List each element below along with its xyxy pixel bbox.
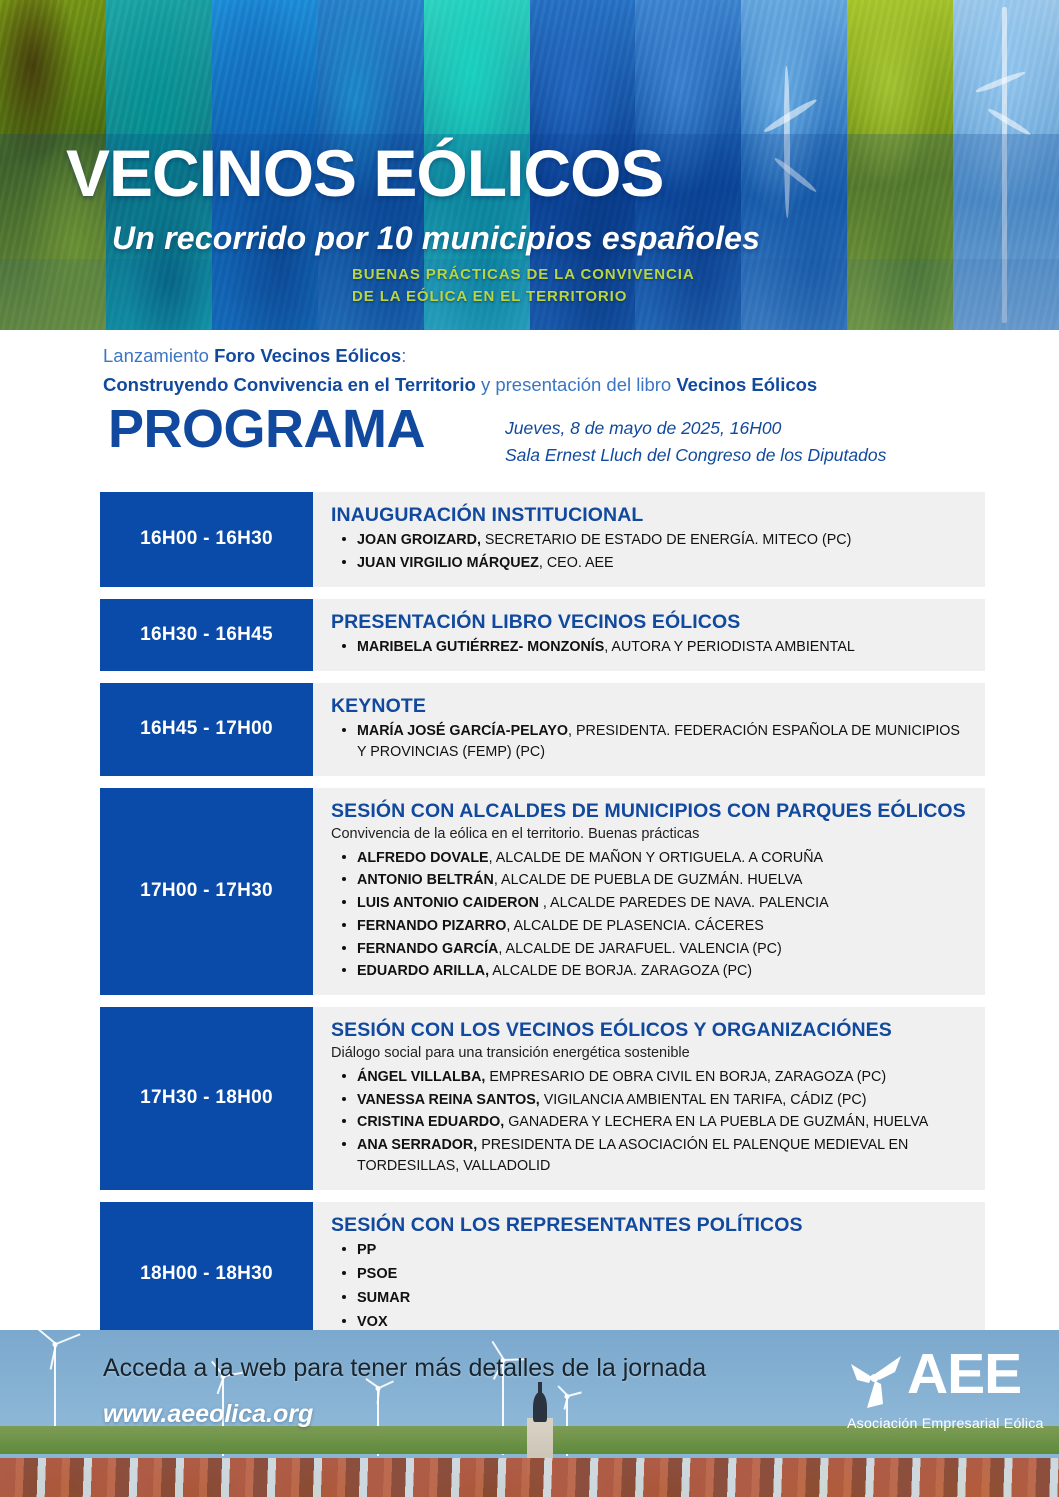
schedule-time: 16H45 - 17H00 [100,683,313,776]
speaker-detail: , ALCALDE DE JARAFUEL. VALENCIA (PC) [498,941,781,957]
list-item: VANESSA REINA SANTOS, VIGILANCIA AMBIENT… [355,1090,971,1111]
schedule-row: 18H00 - 18H30 SESIÓN CON LOS REPRESENTAN… [100,1202,985,1347]
speaker-name: FERNANDO PIZARRO [357,918,506,934]
intro-line2-bold2: Vecinos Eólicos [676,374,817,395]
banner-subtitle: Un recorrido por 10 municipios españoles [112,220,760,257]
banner-kicker: BUENAS PRÁCTICAS DE LA CONVIVENCIA DE LA… [352,264,695,308]
schedule-title: SESIÓN CON ALCALDES DE MUNICIPIOS CON PA… [331,799,971,823]
intro-line2-bold1: Construyendo Convivencia en el Territori… [103,374,476,395]
schedule-time: 17H00 - 17H30 [100,788,313,995]
schedule-time: 18H00 - 18H30 [100,1202,313,1347]
speaker-list: JOAN GROIZARD, SECRETARIO DE ESTADO DE E… [331,530,971,573]
event-venue: Sala Ernest Lluch del Congreso de los Di… [505,442,886,469]
speaker-detail: ALCALDE DE BORJA. ZARAGOZA (PC) [489,963,752,979]
intro-line1-bold: Foro Vecinos Eólicos [214,345,401,366]
page-title: PROGRAMA [108,402,425,456]
aee-logo[interactable]: AEE Asociación Empresarial Eólica [841,1344,1041,1452]
intro-line2-mid: y presentación del libro [476,374,677,395]
aee-logo-text: AEE [907,1346,1021,1403]
schedule-subtitle: Diálogo social para una transición energ… [331,1044,971,1064]
banner-kicker-line1: BUENAS PRÁCTICAS DE LA CONVIVENCIA [352,264,695,286]
turbine-logo-icon [845,1350,905,1412]
schedule-body: PRESENTACIÓN LIBRO VECINOS EÓLICOS MARIB… [313,599,985,671]
intro-line1-suffix: : [401,345,406,366]
schedule-body: SESIÓN CON LOS REPRESENTANTES POLÍTICOS … [313,1202,985,1347]
intro-line-1: Lanzamiento Foro Vecinos Eólicos: [103,342,983,371]
speaker-detail: VIGILANCIA AMBIENTAL EN TARIFA, CÁDIZ (P… [540,1092,867,1108]
list-item: ANA SERRADOR, PRESIDENTA DE LA ASOCIACIÓ… [355,1135,971,1176]
intro-line-2: Construyendo Convivencia en el Territori… [103,371,983,400]
speaker-detail: EMPRESARIO DE OBRA CIVIL EN BORJA, ZARAG… [485,1069,886,1085]
footer-url-link[interactable]: www.aeeolica.org [103,1400,313,1429]
speaker-name: EDUARDO ARILLA, [357,963,489,979]
list-item: ALFREDO DOVALE, ALCALDE DE MAÑON Y ORTIG… [355,848,971,869]
schedule-title: SESIÓN CON LOS REPRESENTANTES POLÍTICOS [331,1213,971,1237]
schedule-body: SESIÓN CON LOS VECINOS EÓLICOS Y ORGANIZ… [313,1007,985,1190]
list-item: CRISTINA EDUARDO, GANADERA Y LECHERA EN … [355,1112,971,1133]
header-banner: VECINOS EÓLICOS Un recorrido por 10 muni… [0,0,1059,330]
schedule-table: 16H00 - 16H30 INAUGURACIÓN INSTITUCIONAL… [100,492,985,1411]
list-item: JUAN VIRGILIO MÁRQUEZ, CEO. AEE [355,553,971,574]
list-item: PSOE [355,1264,971,1285]
speaker-name: JOAN GROIZARD, [357,532,481,548]
schedule-time: 17H30 - 18H00 [100,1007,313,1190]
church-spire [533,1392,547,1422]
schedule-time: 16H00 - 16H30 [100,492,313,587]
intro-text: Lanzamiento Foro Vecinos Eólicos: Constr… [103,342,983,399]
schedule-body: SESIÓN CON ALCALDES DE MUNICIPIOS CON PA… [313,788,985,995]
speaker-name: ANTONIO BELTRÁN [357,872,494,888]
schedule-row: 16H45 - 17H00 KEYNOTE MARÍA JOSÉ GARCÍA-… [100,683,985,776]
speaker-name: JUAN VIRGILIO MÁRQUEZ [357,555,539,571]
speaker-name: CRISTINA EDUARDO, [357,1114,504,1130]
footer-banner: Acceda a la web para tener más detalles … [0,1330,1059,1497]
program-heading-row: PROGRAMA Jueves, 8 de mayo de 2025, 16H0… [108,402,988,472]
list-item: MARIBELA GUTIÉRREZ- MONZONÍS, AUTORA Y P… [355,637,971,658]
schedule-title: PRESENTACIÓN LIBRO VECINOS EÓLICOS [331,610,971,634]
speaker-detail: , ALCALDE DE PLASENCIA. CÁCERES [506,918,763,934]
schedule-subtitle: Convivencia de la eólica en el territori… [331,825,971,845]
list-item: ÁNGEL VILLALBA, EMPRESARIO DE OBRA CIVIL… [355,1067,971,1088]
speaker-name: MARÍA JOSÉ GARCÍA-PELAYO [357,723,568,739]
list-item: EDUARDO ARILLA, ALCALDE DE BORJA. ZARAGO… [355,961,971,982]
schedule-body: INAUGURACIÓN INSTITUCIONAL JOAN GROIZARD… [313,492,985,587]
list-item: JOAN GROIZARD, SECRETARIO DE ESTADO DE E… [355,530,971,551]
speaker-name: ÁNGEL VILLALBA, [357,1069,485,1085]
list-item: LUIS ANTONIO CAIDERON , ALCALDE PAREDES … [355,893,971,914]
speaker-list: ÁNGEL VILLALBA, EMPRESARIO DE OBRA CIVIL… [331,1067,971,1177]
church-spire-tip [538,1382,542,1396]
list-item: FERNANDO GARCÍA, ALCALDE DE JARAFUEL. VA… [355,939,971,960]
schedule-time: 16H30 - 16H45 [100,599,313,671]
banner-title: VECINOS EÓLICOS [66,140,663,206]
list-item: PP [355,1240,971,1261]
footer-rooftops [0,1458,1059,1497]
speaker-detail: , AUTORA Y PERIODISTA AMBIENTAL [604,639,855,655]
speaker-list: ALFREDO DOVALE, ALCALDE DE MAÑON Y ORTIG… [331,848,971,982]
intro-line1-prefix: Lanzamiento [103,345,214,366]
speaker-name: ANA SERRADOR, [357,1137,477,1153]
party-list: PP PSOE SUMAR VOX [331,1240,971,1333]
list-item: MARÍA JOSÉ GARCÍA-PELAYO, PRESIDENTA. FE… [355,721,971,762]
speaker-name: VANESSA REINA SANTOS, [357,1092,540,1108]
schedule-row: 17H00 - 17H30 SESIÓN CON ALCALDES DE MUN… [100,788,985,995]
speaker-detail: , ALCALDE PAREDES DE NAVA. PALENCIA [539,895,829,911]
schedule-title: KEYNOTE [331,694,971,718]
aee-logo-subtitle: Asociación Empresarial Eólica [847,1416,1044,1432]
speaker-detail: GANADERA Y LECHERA EN LA PUEBLA DE GUZMÁ… [504,1114,928,1130]
speaker-name: MARIBELA GUTIÉRREZ- MONZONÍS [357,639,604,655]
schedule-title: SESIÓN CON LOS VECINOS EÓLICOS Y ORGANIZ… [331,1018,971,1042]
speaker-detail: , ALCALDE DE MAÑON Y ORTIGUELA. A CORUÑA [489,850,824,866]
schedule-title: INAUGURACIÓN INSTITUCIONAL [331,503,971,527]
speaker-list: MARIBELA GUTIÉRREZ- MONZONÍS, AUTORA Y P… [331,637,971,658]
schedule-row: 16H00 - 16H30 INAUGURACIÓN INSTITUCIONAL… [100,492,985,587]
footer-cta-text: Acceda a la web para tener más detalles … [103,1354,706,1383]
speaker-detail: , CEO. AEE [539,555,614,571]
speaker-detail: SECRETARIO DE ESTADO DE ENERGÍA. MITECO … [481,532,851,548]
schedule-body: KEYNOTE MARÍA JOSÉ GARCÍA-PELAYO, PRESID… [313,683,985,776]
schedule-row: 16H30 - 16H45 PRESENTACIÓN LIBRO VECINOS… [100,599,985,671]
speaker-name: ALFREDO DOVALE [357,850,489,866]
event-when-where: Jueves, 8 de mayo de 2025, 16H00 Sala Er… [505,415,886,469]
speaker-name: FERNANDO GARCÍA [357,941,498,957]
event-date: Jueves, 8 de mayo de 2025, 16H00 [505,415,886,442]
speaker-detail: , ALCALDE DE PUEBLA DE GUZMÁN. HUELVA [494,872,803,888]
banner-kicker-line2: DE LA EÓLICA EN EL TERRITORIO [352,286,695,308]
list-item: SUMAR [355,1288,971,1309]
speaker-list: MARÍA JOSÉ GARCÍA-PELAYO, PRESIDENTA. FE… [331,721,971,762]
speaker-name: LUIS ANTONIO CAIDERON [357,895,539,911]
schedule-row: 17H30 - 18H00 SESIÓN CON LOS VECINOS EÓL… [100,1007,985,1190]
list-item: FERNANDO PIZARRO, ALCALDE DE PLASENCIA. … [355,916,971,937]
list-item: ANTONIO BELTRÁN, ALCALDE DE PUEBLA DE GU… [355,870,971,891]
